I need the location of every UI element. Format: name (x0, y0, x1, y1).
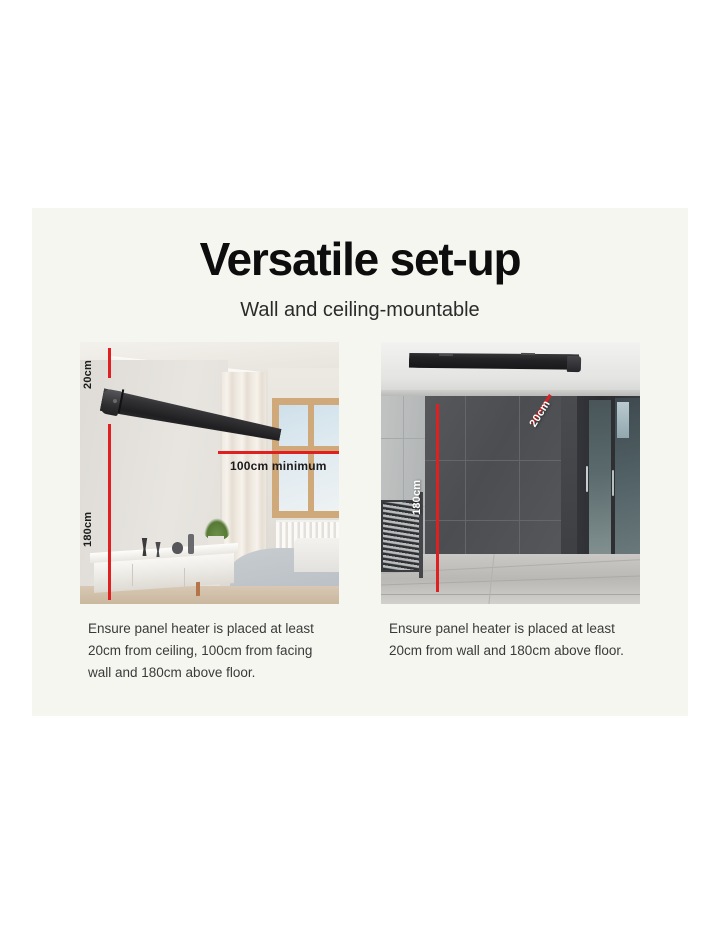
caption-wall-mounted: Ensure panel heater is placed at least 2… (80, 618, 339, 684)
tile-seam (425, 520, 565, 521)
annotation-line-ceiling-clearance (108, 348, 111, 378)
window (272, 398, 339, 518)
infographic-page: Versatile set-up Wall and ceiling-mounta… (0, 0, 720, 928)
bed (294, 538, 339, 572)
photo-ceiling-mounted: 180cm 20cm (381, 342, 640, 604)
ceiling-edge (381, 390, 640, 396)
caption-row: Ensure panel heater is placed at least 2… (80, 618, 640, 684)
heater-indicator (113, 399, 117, 403)
tile-seam (425, 460, 565, 461)
heater-end-cap (567, 356, 581, 372)
heater-slot (521, 353, 535, 355)
annotation-label-floor-height: 180cm (83, 512, 94, 547)
annotation-label-ceiling-clearance: 20cm (83, 360, 94, 389)
annotation-label-floor-height: 180cm (412, 480, 423, 515)
tile-seam (381, 438, 427, 439)
versatile-setup-card: Versatile set-up Wall and ceiling-mounta… (32, 208, 688, 716)
door-handle (612, 470, 614, 496)
door-handle (586, 466, 588, 492)
caption-ceiling-mounted: Ensure panel heater is placed at least 2… (381, 618, 640, 684)
tile-seam (465, 392, 466, 554)
annotation-line-facing-wall-clearance (218, 451, 339, 454)
page-title: Versatile set-up (32, 236, 688, 282)
decor-object (172, 542, 183, 554)
heater-slot (439, 354, 453, 356)
photo-row: 20cm 180cm 100cm minimum (80, 342, 640, 604)
window-mullion-vertical (308, 398, 314, 518)
annotation-label-facing-wall-clearance: 100cm minimum (230, 460, 327, 472)
annotation-line-floor-height (108, 424, 111, 600)
sideboard-leg (196, 582, 200, 596)
sideboard-seam (184, 568, 185, 590)
tile-seam (519, 392, 520, 554)
decor-object (188, 534, 194, 554)
floor-seam (381, 594, 640, 595)
door-glass-highlight (617, 402, 629, 438)
page-subtitle: Wall and ceiling-mountable (32, 300, 688, 320)
annotation-line-floor-height (436, 404, 439, 592)
sideboard-seam (132, 564, 133, 586)
photo-wall-mounted: 20cm 180cm 100cm minimum (80, 342, 339, 604)
